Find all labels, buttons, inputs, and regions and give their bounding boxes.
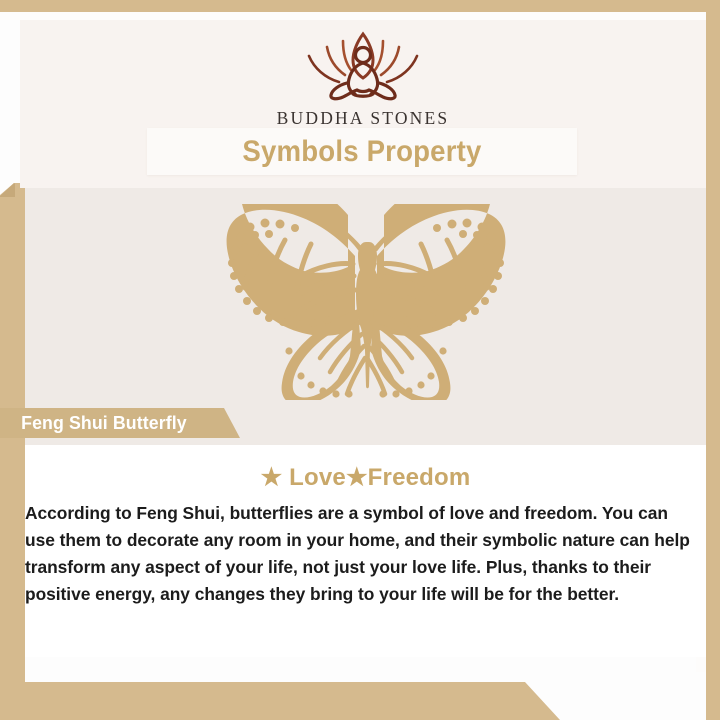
product-info-card: BUDDHA STONES Symbols Property — [0, 0, 720, 720]
lotus-meditation-icon — [287, 28, 439, 102]
feng-shui-butterfly-label-text: Feng Shui Butterfly — [0, 412, 187, 434]
frame-top-band — [0, 0, 720, 12]
page-title: Symbols Property — [242, 135, 481, 169]
frame-inner-highlight-top — [0, 12, 706, 20]
feng-shui-butterfly-label: Feng Shui Butterfly — [0, 408, 240, 438]
subheading: ★ Love★Freedom — [25, 463, 706, 492]
frame-right-band — [706, 0, 720, 720]
illustration-section — [25, 188, 706, 445]
monarch-butterfly-icon — [203, 204, 529, 400]
title-banner: Symbols Property — [147, 128, 577, 175]
frame-bottom-band — [0, 682, 560, 720]
description-paragraph: According to Feng Shui, butterflies are … — [25, 500, 706, 608]
header-section: BUDDHA STONES Symbols Property — [20, 20, 706, 188]
brand-name: BUDDHA STONES — [277, 108, 450, 129]
brand-logo: BUDDHA STONES — [20, 28, 706, 129]
frame-left-bevel — [0, 183, 15, 197]
description-section: ★ Love★Freedom According to Feng Shui, b… — [25, 445, 706, 657]
